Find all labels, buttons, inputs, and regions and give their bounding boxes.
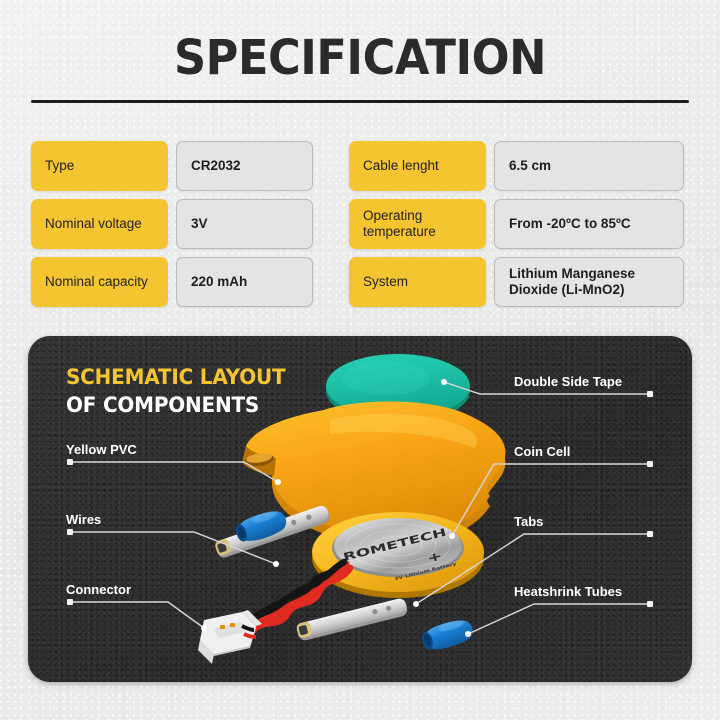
heatshrink-tube-lower bbox=[419, 616, 475, 653]
callout-tabs: Tabs bbox=[514, 514, 543, 529]
spec-label: Type bbox=[31, 141, 168, 191]
callout-wires: Wires bbox=[66, 512, 101, 527]
coin-cell-part: ROMETECH + 3V Lithium Battery bbox=[312, 512, 484, 598]
column-gap bbox=[321, 141, 341, 191]
schematic-panel: SCHEMATIC LAYOUT OF COMPONENTS bbox=[28, 336, 692, 682]
callout-coin-cell: Coin Cell bbox=[514, 444, 570, 459]
column-gap bbox=[321, 199, 341, 249]
title-divider bbox=[31, 100, 689, 103]
spec-label: Nominal voltage bbox=[31, 199, 168, 249]
page-title: SPECIFICATION bbox=[25, 30, 695, 86]
spec-value: CR2032 bbox=[176, 141, 313, 191]
spec-label: Nominal capacity bbox=[31, 257, 168, 307]
spec-value: From -20ºC to 85ºC bbox=[494, 199, 684, 249]
spec-label: System bbox=[349, 257, 486, 307]
callout-yellow-pvc: Yellow PVC bbox=[66, 442, 137, 457]
connector-part bbox=[198, 610, 262, 664]
callout-double-side-tape: Double Side Tape bbox=[514, 374, 622, 389]
specification-table: Type CR2032 Cable lenght 6.5 cm Nominal … bbox=[31, 141, 689, 307]
callout-connector: Connector bbox=[66, 582, 131, 597]
column-gap bbox=[321, 257, 341, 307]
spec-value: 3V bbox=[176, 199, 313, 249]
spec-value: Lithium Manganese Dioxide (Li-MnO2) bbox=[494, 257, 684, 307]
callout-heatshrink-tubes: Heatshrink Tubes bbox=[514, 584, 622, 599]
tab-part-lower bbox=[296, 597, 409, 642]
spec-value: 6.5 cm bbox=[494, 141, 684, 191]
specification-infographic: SPECIFICATION Type CR2032 Cable lenght 6… bbox=[0, 0, 720, 720]
spec-value: 220 mAh bbox=[176, 257, 313, 307]
spec-label: Cable lenght bbox=[349, 141, 486, 191]
spec-label: Operating temperature bbox=[349, 199, 486, 249]
